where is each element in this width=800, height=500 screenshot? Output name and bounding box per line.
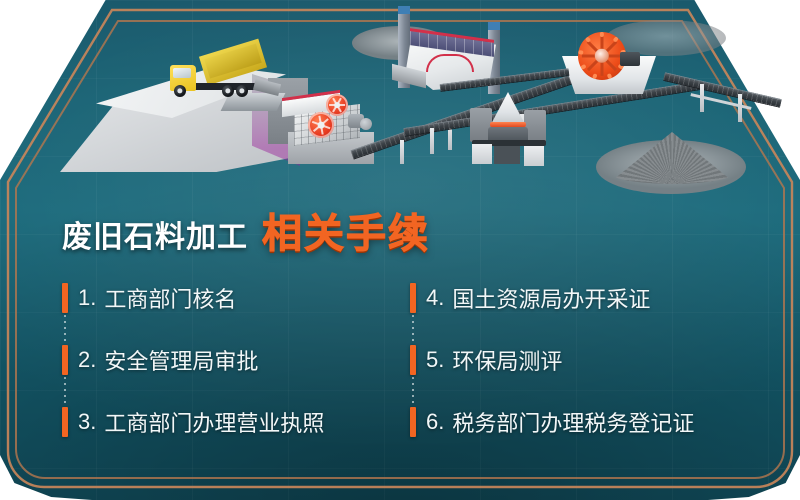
- item-number: 1.: [78, 285, 96, 311]
- cone-crusher-discharge: [494, 146, 520, 164]
- conveyor-leg-1: [400, 140, 404, 164]
- list-item[interactable]: 1. 工商部门核名: [62, 267, 412, 329]
- item-label: 国土资源局办开采证: [444, 282, 650, 314]
- sand-washer-motor: [620, 52, 640, 66]
- truck-wheel-front: [174, 85, 186, 97]
- item-label: 工商部门办理营业执照: [96, 406, 324, 438]
- jaw-crusher-pulley: [360, 118, 372, 130]
- procedure-column-left: 1. 工商部门核名 2. 安全管理局审批 3. 工商部门办理营业执照: [62, 267, 412, 453]
- list-item[interactable]: 2. 安全管理局审批: [62, 329, 412, 391]
- item-number: 6.: [426, 409, 444, 435]
- jaw-crusher-flywheel-upper: [326, 94, 348, 116]
- list-item[interactable]: 3. 工商部门办理营业执照: [62, 391, 412, 453]
- screen-tower-cap-left: [398, 6, 410, 14]
- item-accent-bar: [62, 283, 68, 313]
- list-item[interactable]: 4. 国土资源局办开采证: [410, 267, 780, 329]
- truck-windshield: [173, 68, 191, 78]
- text-content-area: 废旧石料加工 相关手续 1. 工商部门核名 2. 安全管理局审批: [0, 185, 800, 485]
- item-number: 4.: [426, 285, 444, 311]
- item-label: 税务部门办理税务登记证: [444, 406, 694, 438]
- item-accent-bar: [62, 407, 68, 437]
- item-accent-bar: [410, 345, 416, 375]
- screen-arc-marking: [426, 54, 474, 72]
- item-accent-bar: [62, 345, 68, 375]
- procedure-column-right: 4. 国土资源局办开采证 5. 环保局测评 6. 税务部门办理税务登记证: [410, 267, 780, 453]
- item-accent-bar: [410, 283, 416, 313]
- item-accent-bar: [410, 407, 416, 437]
- list-item[interactable]: 6. 税务部门办理税务登记证: [410, 391, 780, 453]
- sand-washer-wheel: [578, 32, 626, 80]
- title-prefix: 废旧石料加工: [62, 212, 248, 256]
- item-label: 安全管理局审批: [96, 344, 258, 376]
- screen-tower-cap-right: [488, 22, 500, 30]
- truck-wheel-mid: [222, 85, 234, 97]
- list-item[interactable]: 5. 环保局测评: [410, 329, 780, 391]
- cone-crusher-foot-left: [472, 144, 492, 164]
- production-line-illustration: [0, 0, 800, 210]
- conveyor-out-leg-2: [738, 94, 742, 122]
- dump-truck: [168, 57, 273, 103]
- cone-crusher-foot-right: [524, 146, 544, 166]
- item-number: 2.: [78, 347, 96, 373]
- banner-title: 废旧石料加工 相关手续: [62, 201, 430, 259]
- cone-crusher: [466, 88, 556, 166]
- banner-image: 废旧石料加工 相关手续 1. 工商部门核名 2. 安全管理局审批: [0, 0, 800, 500]
- sand-washer: [560, 34, 668, 96]
- item-number: 3.: [78, 409, 96, 435]
- conveyor-lower-leg-1: [430, 128, 434, 154]
- jaw-crusher-flywheel-lower: [308, 112, 334, 138]
- item-label: 工商部门核名: [96, 282, 236, 314]
- truck-wheel-rear: [236, 85, 248, 97]
- jaw-crusher: [286, 88, 394, 166]
- title-highlight: 相关手续: [262, 201, 430, 259]
- item-label: 环保局测评: [444, 344, 562, 376]
- item-number: 5.: [426, 347, 444, 373]
- cone-crusher-cone: [490, 92, 526, 126]
